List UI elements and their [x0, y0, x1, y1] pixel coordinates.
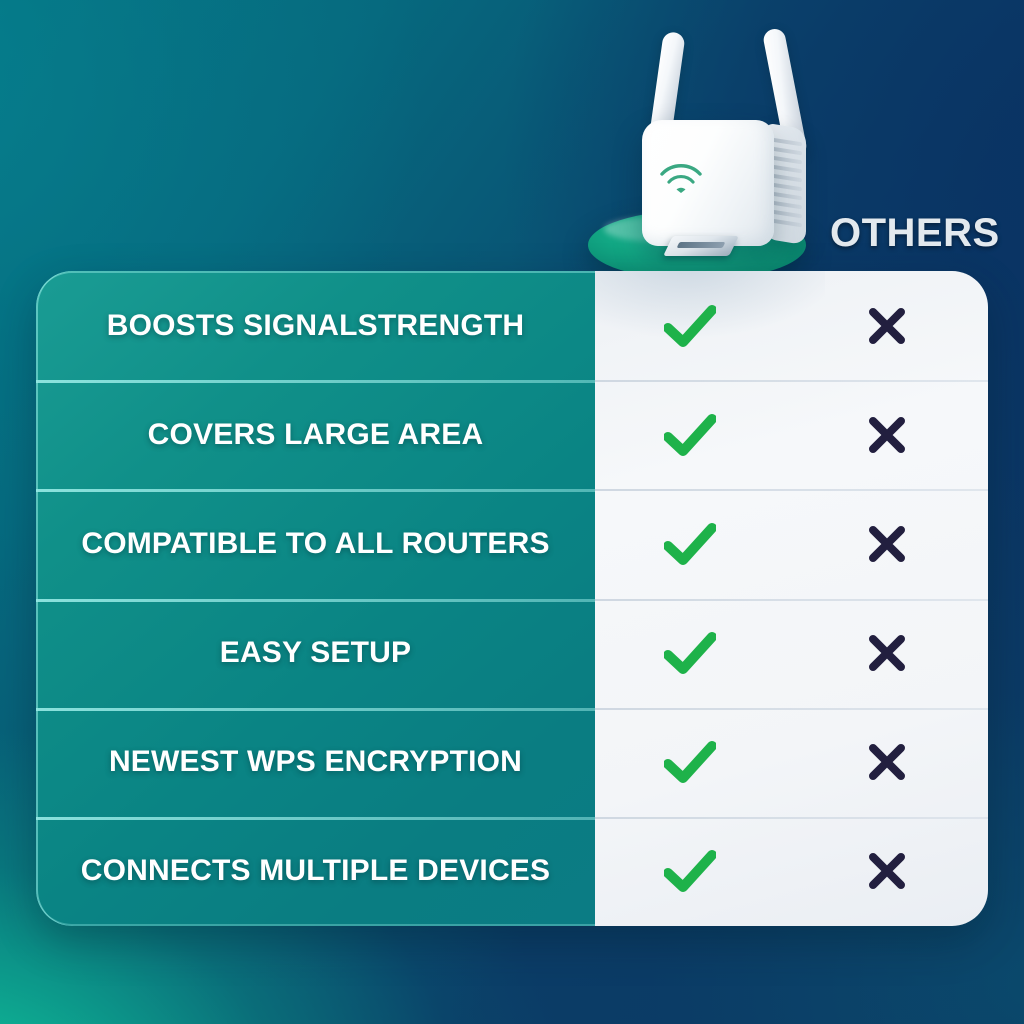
check-icon	[664, 414, 716, 456]
cell-ours	[595, 523, 785, 565]
feature-label: COVERS LARGE AREA	[36, 418, 595, 452]
feature-label: EASY SETUP	[36, 636, 595, 670]
cell-ours	[595, 305, 785, 347]
mark-cells	[595, 305, 988, 347]
check-icon	[664, 741, 716, 783]
cell-others	[785, 306, 988, 346]
cell-others	[785, 524, 988, 564]
cross-icon	[867, 415, 907, 455]
table-row: EASY SETUP	[36, 599, 988, 708]
feature-label: BOOSTS SIGNALSTRENGTH	[36, 309, 595, 343]
cross-icon	[867, 306, 907, 346]
product-hero	[570, 14, 870, 279]
cell-others	[785, 851, 988, 891]
cross-icon	[867, 524, 907, 564]
cross-icon	[867, 633, 907, 673]
cross-icon	[867, 851, 907, 891]
comparison-table: BOOSTS SIGNALSTRENGTHCOVERS LARGE AREACO…	[36, 271, 988, 926]
cell-others	[785, 742, 988, 782]
device-plug-slot	[677, 242, 726, 248]
column-header-others: OTHERS	[830, 211, 1000, 256]
cell-others	[785, 415, 988, 455]
mark-cells	[595, 523, 988, 565]
table-row: CONNECTS MULTIPLE DEVICES	[36, 817, 988, 926]
cell-ours	[595, 632, 785, 674]
mark-cells	[595, 414, 988, 456]
mark-cells	[595, 850, 988, 892]
cell-ours	[595, 850, 785, 892]
check-icon	[664, 632, 716, 674]
check-icon	[664, 305, 716, 347]
check-icon	[664, 523, 716, 565]
device-vents	[772, 138, 802, 235]
cross-icon	[867, 742, 907, 782]
cell-others	[785, 633, 988, 673]
cell-ours	[595, 741, 785, 783]
table-row: NEWEST WPS ENCRYPTION	[36, 708, 988, 817]
mark-cells	[595, 632, 988, 674]
table-row: COMPATIBLE TO ALL ROUTERS	[36, 489, 988, 598]
table-row: COVERS LARGE AREA	[36, 380, 988, 489]
feature-label: COMPATIBLE TO ALL ROUTERS	[36, 527, 595, 561]
table-rows: BOOSTS SIGNALSTRENGTHCOVERS LARGE AREACO…	[36, 271, 988, 926]
mark-cells	[595, 741, 988, 783]
wifi-signal-icon	[658, 162, 704, 196]
cell-ours	[595, 414, 785, 456]
comparison-chart-image: OTHERS BOOSTS SIGNALSTRENGTHCOVERS LARGE…	[0, 0, 1024, 1024]
table-row: BOOSTS SIGNALSTRENGTH	[36, 271, 988, 380]
check-icon	[664, 850, 716, 892]
feature-label: CONNECTS MULTIPLE DEVICES	[36, 854, 595, 888]
feature-label: NEWEST WPS ENCRYPTION	[36, 745, 595, 779]
